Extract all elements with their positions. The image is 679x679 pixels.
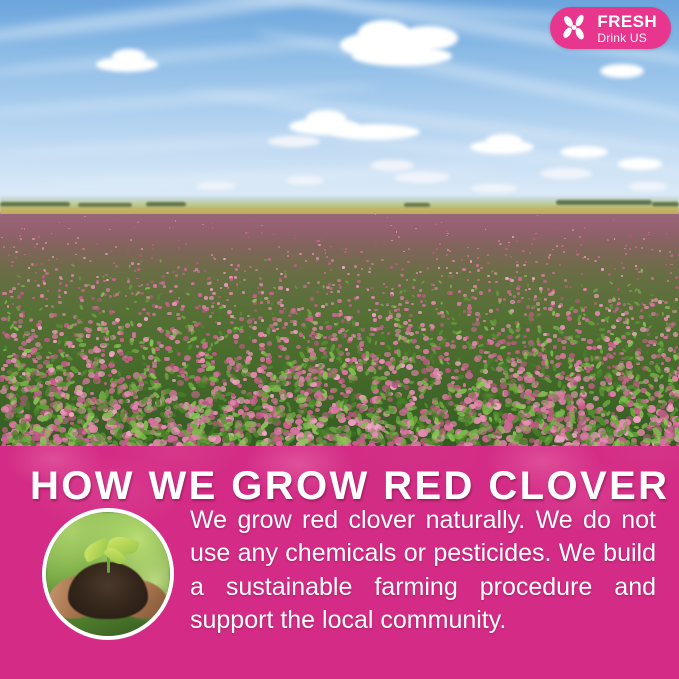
clover-blossom	[505, 248, 507, 250]
cloud	[470, 184, 518, 193]
clover-blossom	[617, 302, 620, 305]
clover-blossom	[369, 333, 373, 337]
clover-leaf	[301, 425, 310, 430]
clover-blossom	[529, 252, 532, 254]
clover-blossom	[501, 328, 505, 331]
clover-blossom	[32, 297, 35, 300]
brand-logo-text: FRESH Drink US	[597, 13, 657, 44]
clover-blossom	[497, 340, 503, 345]
clover-blossom	[59, 222, 60, 223]
clover-blossom	[659, 250, 661, 252]
clover-blossom	[586, 346, 589, 349]
clover-blossom	[470, 260, 473, 262]
clover-blossom	[131, 292, 134, 295]
clover-blossom	[175, 220, 176, 221]
clover-blossom	[486, 342, 490, 345]
clover-blossom	[326, 293, 329, 295]
clover-blossom	[125, 295, 128, 297]
clover-blossom	[614, 268, 616, 270]
clover-blossom	[34, 335, 38, 339]
clover-blossom	[371, 263, 373, 265]
clover-blossom	[557, 228, 559, 229]
clover-blossom	[267, 341, 273, 346]
clover-leaf	[617, 365, 626, 370]
clover-blossom	[555, 313, 560, 317]
clover-leaf	[406, 347, 411, 354]
clover-leaf	[403, 289, 406, 293]
clover-blossom	[635, 268, 638, 270]
clover-blossom	[595, 356, 599, 360]
clover-blossom	[511, 301, 514, 303]
clover-blossom	[243, 378, 247, 381]
clover-blossom	[253, 218, 254, 219]
clover-blossom	[277, 301, 281, 305]
clover-blossom	[170, 290, 173, 293]
clover-blossom	[450, 275, 454, 278]
clover-blossom	[463, 383, 467, 386]
clover-blossom	[260, 357, 265, 362]
clover-leaf	[71, 263, 75, 267]
clover-leaf	[6, 355, 12, 358]
clover-blossom	[491, 327, 495, 330]
clover-blossom	[242, 291, 245, 294]
clover-blossom	[340, 328, 345, 332]
clover-leaf	[157, 294, 161, 300]
clover-blossom	[447, 249, 449, 251]
clover-blossom	[117, 221, 118, 222]
clover-blossom	[416, 355, 420, 359]
clover-blossom	[307, 282, 309, 284]
clover-leaf	[386, 255, 388, 258]
clover-blossom	[248, 237, 250, 239]
clover-blossom	[383, 283, 385, 285]
clover-blossom	[512, 236, 514, 237]
clover-blossom	[27, 279, 30, 282]
clover-blossom	[3, 246, 5, 248]
clover-blossom	[261, 225, 263, 226]
clover-blossom	[618, 298, 621, 300]
clover-blossom	[595, 311, 600, 315]
clover-blossom	[371, 296, 375, 299]
clover-blossom	[34, 280, 37, 282]
clover-blossom	[210, 288, 213, 291]
clover-leaf	[126, 307, 130, 311]
clover-blossom	[120, 338, 124, 341]
clover-blossom	[286, 288, 289, 291]
clover-blossom	[254, 321, 257, 324]
clover-blossom	[435, 224, 437, 225]
clover-blossom	[528, 298, 530, 300]
clover-leaf	[24, 401, 30, 410]
clover-blossom	[328, 395, 335, 401]
clover-leaf	[109, 316, 114, 320]
clover-blossom	[169, 227, 171, 228]
clover-leaf	[550, 401, 556, 409]
clover-leaf	[538, 391, 548, 397]
clover-leaf	[438, 342, 445, 347]
clover-blossom	[483, 320, 486, 323]
clover-blossom	[655, 336, 659, 339]
clover-blossom	[586, 370, 590, 374]
clover-leaf	[472, 413, 478, 417]
clover-blossom	[369, 267, 372, 269]
clover-blossom	[217, 322, 220, 325]
clover-blossom	[347, 273, 350, 276]
clover-blossom	[7, 305, 10, 307]
clover-blossom	[406, 327, 411, 331]
clover-blossom	[397, 308, 400, 311]
clover-blossom	[47, 290, 50, 292]
clover-leaf	[601, 346, 606, 351]
clover-blossom	[403, 251, 405, 253]
clover-leaf	[408, 381, 414, 385]
clover-blossom	[196, 359, 200, 362]
clover-blossom	[6, 233, 8, 234]
clover-leaf	[412, 294, 415, 297]
clover-blossom	[86, 359, 90, 362]
clover-blossom	[400, 296, 404, 299]
clover-leaf	[645, 351, 649, 354]
clover-blossom	[38, 326, 42, 330]
clover-leaf	[259, 297, 262, 302]
clover-blossom	[142, 308, 146, 311]
clover-blossom	[12, 303, 15, 305]
clover-blossom	[82, 381, 87, 385]
cloud	[628, 182, 668, 191]
clover-leaf	[238, 280, 242, 284]
clover-leaf	[333, 306, 338, 312]
clover-blossom	[535, 261, 538, 264]
clover-blossom	[436, 248, 439, 250]
clover-blossom	[1, 317, 6, 321]
clover-blossom	[398, 303, 401, 306]
cloud	[352, 46, 452, 66]
clover-leaf	[21, 285, 25, 288]
clover-blossom	[508, 242, 510, 243]
clover-leaf	[425, 299, 428, 303]
clover-blossom	[272, 317, 276, 321]
clover-blossom	[666, 233, 668, 234]
clover-blossom	[207, 282, 210, 285]
clover-leaf	[102, 275, 104, 278]
clover-leaf	[421, 280, 426, 284]
clover-blossom	[440, 323, 444, 327]
clover-blossom	[648, 234, 650, 235]
clover-blossom	[671, 254, 673, 256]
flower-petals-icon	[560, 13, 590, 43]
clover-blossom	[184, 268, 187, 271]
clover-blossom	[508, 245, 510, 247]
clover-leaf	[388, 311, 391, 315]
clover-blossom	[665, 264, 667, 266]
clover-blossom	[297, 308, 301, 312]
clover-blossom	[337, 299, 342, 303]
clover-blossom	[224, 283, 228, 286]
clover-blossom	[285, 355, 290, 359]
clover-blossom	[558, 305, 561, 308]
clover-blossom	[525, 261, 527, 263]
clover-leaf	[492, 320, 498, 327]
clover-blossom	[370, 353, 375, 357]
clover-blossom	[137, 268, 140, 271]
clover-blossom	[471, 327, 477, 332]
clover-blossom	[294, 264, 297, 267]
clover-blossom	[375, 214, 376, 215]
clover-leaf	[321, 341, 328, 346]
clover-blossom	[13, 246, 15, 248]
clover-blossom	[95, 307, 100, 311]
clover-blossom	[624, 248, 626, 250]
clover-leaf	[352, 321, 356, 328]
clover-blossom	[43, 269, 45, 271]
clover-leaf	[264, 258, 268, 261]
clover-leaf	[181, 315, 187, 321]
clover-blossom	[227, 310, 232, 314]
clover-blossom	[372, 313, 377, 317]
clover-blossom	[211, 305, 214, 308]
brand-name-primary: FRESH	[597, 13, 657, 30]
clover-blossom	[463, 310, 466, 312]
clover-blossom	[441, 222, 442, 223]
clover-blossom	[209, 315, 212, 317]
clover-leaf	[77, 268, 80, 271]
clover-blossom	[172, 227, 174, 228]
clover-blossom	[640, 327, 645, 332]
clover-blossom	[230, 400, 236, 405]
clover-blossom	[136, 278, 138, 280]
clover-blossom	[256, 412, 261, 416]
clover-leaf	[142, 346, 148, 351]
cloud	[618, 158, 662, 170]
clover-leaf	[477, 344, 483, 348]
clover-blossom	[357, 274, 360, 277]
clover-blossom	[172, 302, 176, 306]
clover-blossom	[101, 349, 105, 352]
clover-blossom	[592, 346, 597, 350]
clover-blossom	[88, 349, 93, 354]
clover-leaf	[446, 360, 450, 365]
clover-blossom	[498, 240, 500, 242]
clover-blossom	[35, 272, 38, 274]
clover-blossom	[172, 379, 176, 382]
clover-blossom	[230, 278, 233, 280]
clover-blossom	[158, 306, 162, 309]
clover-blossom	[69, 412, 74, 417]
clover-leaf	[186, 292, 190, 296]
clover-blossom	[359, 342, 363, 345]
clover-leaf	[663, 419, 667, 426]
clover-blossom	[461, 259, 463, 261]
clover-blossom	[675, 286, 679, 289]
clover-blossom	[130, 239, 132, 241]
clover-blossom	[436, 258, 439, 260]
clover-blossom	[361, 268, 364, 270]
clover-leaf	[206, 366, 215, 371]
clover-leaf	[407, 411, 413, 422]
clover-blossom	[37, 364, 43, 369]
clover-leaf	[56, 340, 61, 345]
clover-leaf	[140, 261, 143, 263]
clover-leaf	[279, 399, 285, 402]
clover-blossom	[126, 375, 131, 379]
clover-blossom	[328, 283, 331, 285]
clover-blossom	[59, 276, 63, 279]
clover-blossom	[175, 274, 178, 276]
clover-blossom	[596, 323, 599, 325]
clover-blossom	[675, 276, 678, 279]
clover-blossom	[1, 237, 3, 238]
hero-photo: FRESH Drink US	[0, 0, 679, 447]
clover-blossom	[133, 227, 135, 228]
clover-blossom	[451, 340, 455, 343]
clover-leaf	[214, 340, 220, 345]
clover-blossom	[329, 287, 333, 290]
clover-blossoms	[0, 214, 679, 447]
clover-blossom	[262, 431, 267, 436]
clover-blossom	[138, 312, 142, 315]
clover-blossom	[89, 260, 92, 262]
clover-blossom	[153, 284, 157, 287]
clover-blossom	[650, 303, 655, 307]
clover-blossom	[101, 353, 106, 357]
clover-blossom	[212, 302, 215, 305]
clover-blossom	[612, 365, 616, 368]
clover-blossom	[561, 245, 563, 247]
clover-blossom	[159, 329, 164, 333]
clover-blossom	[373, 318, 377, 322]
clover-blossom	[109, 390, 114, 394]
clover-blossom	[446, 235, 448, 236]
clover-blossom	[613, 341, 617, 344]
clover-leaf	[248, 336, 250, 340]
clover-blossom	[629, 248, 632, 250]
clover-blossom	[197, 270, 200, 272]
clover-blossom	[332, 284, 334, 286]
clover-blossom	[631, 244, 633, 245]
clover-blossom	[617, 288, 620, 290]
clover-blossom	[374, 309, 377, 312]
clover-blossom	[554, 439, 559, 443]
clover-blossom	[506, 342, 511, 347]
clover-blossom	[317, 281, 321, 284]
clover-blossom	[625, 253, 627, 255]
clover-leaf	[508, 327, 514, 335]
clover-leaf	[498, 300, 501, 304]
clover-blossom	[259, 277, 263, 280]
clover-leaf	[9, 296, 14, 299]
clover-blossom	[236, 283, 239, 285]
clover-blossom	[61, 411, 67, 416]
clover-blossom	[419, 271, 422, 273]
clover-blossom	[261, 232, 263, 234]
clover-blossom	[287, 255, 289, 257]
clover-blossom	[661, 362, 664, 365]
clover-leaf	[148, 386, 153, 389]
clover-blossom	[621, 262, 623, 264]
clover-leaf	[524, 275, 527, 277]
clover-blossom	[109, 353, 114, 357]
clover-leaf	[655, 364, 661, 373]
clover-blossom	[581, 338, 585, 342]
clover-blossom	[279, 277, 282, 279]
clover-blossom	[345, 248, 347, 250]
clover-blossom	[58, 289, 61, 292]
clover-blossom	[255, 269, 258, 271]
clover-leaf	[38, 345, 44, 350]
clover-blossom	[435, 223, 436, 224]
clover-blossom	[445, 368, 451, 373]
clover-blossom	[492, 353, 497, 357]
clover-leaf	[438, 280, 443, 285]
clover-leaf	[643, 322, 646, 327]
clover-blossom	[0, 378, 4, 382]
clover-leaf	[601, 333, 606, 340]
clover-blossom	[97, 298, 101, 302]
clover-blossom	[152, 248, 154, 250]
clover-blossom	[81, 289, 85, 292]
clover-blossom	[152, 365, 157, 369]
clover-blossom	[517, 292, 520, 295]
clover-blossom	[102, 322, 107, 326]
clover-blossom	[375, 242, 377, 244]
clover-blossom	[1, 367, 6, 371]
clover-blossom	[368, 309, 371, 311]
clover-blossom	[299, 253, 302, 255]
clover-blossom	[37, 284, 40, 287]
clover-leaf	[186, 364, 190, 371]
clover-blossom	[608, 347, 613, 351]
clover-blossom	[581, 273, 583, 275]
clover-blossom	[457, 302, 461, 306]
clover-blossom	[347, 299, 351, 303]
clover-blossom	[642, 339, 647, 343]
clover-blossom	[465, 372, 473, 378]
clover-leaf	[379, 332, 386, 340]
clover-blossom	[325, 303, 328, 305]
clover-leaf	[457, 388, 467, 395]
clover-blossom	[323, 336, 327, 339]
clover-blossom	[598, 256, 600, 258]
clover-blossom	[109, 295, 112, 297]
clover-blossom	[462, 268, 465, 271]
clover-blossom	[467, 247, 469, 249]
clover-leaf	[153, 385, 161, 390]
clover-blossom	[252, 326, 257, 330]
clover-blossom	[239, 317, 243, 321]
clover-blossom	[439, 243, 441, 245]
clover-leaf	[80, 305, 84, 310]
clover-blossom	[24, 228, 26, 229]
clover-blossom	[20, 238, 22, 240]
clover-leaf	[566, 396, 572, 406]
clover-blossom	[349, 304, 352, 307]
clover-blossom	[185, 243, 187, 245]
clover-blossom	[507, 335, 512, 340]
clover-blossom	[622, 267, 625, 269]
clover-blossom	[34, 246, 36, 247]
clover-leaf	[200, 324, 205, 330]
brand-logo-badge[interactable]: FRESH Drink US	[550, 7, 671, 49]
clover-blossom	[456, 335, 462, 340]
clover-leaf	[15, 273, 19, 277]
clover-blossom	[640, 309, 643, 312]
clover-blossom	[370, 327, 374, 331]
clover-blossom	[303, 285, 306, 288]
clover-blossom	[202, 224, 204, 225]
clover-blossom	[261, 293, 264, 295]
clover-blossom	[621, 275, 623, 277]
clover-blossom	[196, 262, 198, 264]
